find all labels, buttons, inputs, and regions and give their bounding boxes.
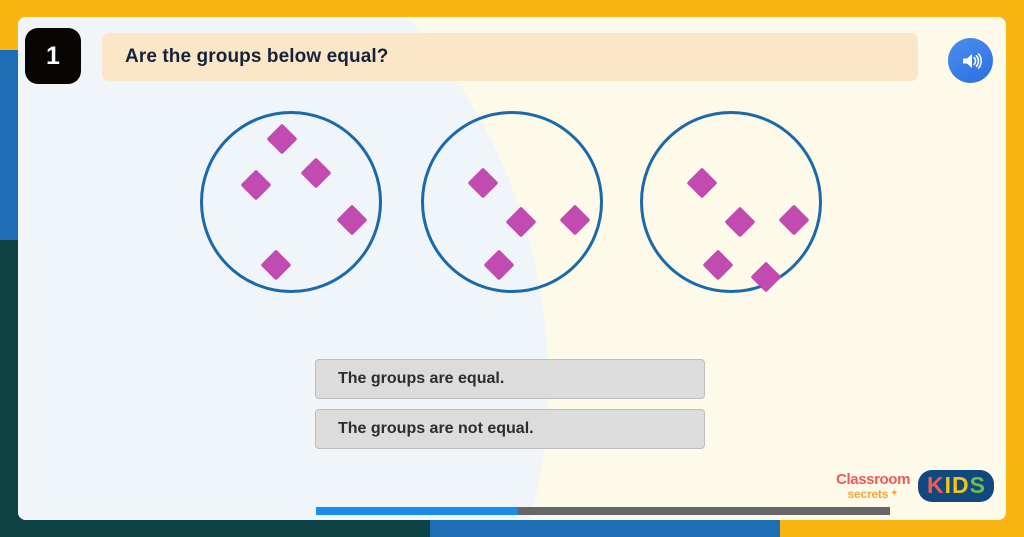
diamond-counter [300, 157, 331, 188]
classroom-secrets-logo: Classroom secrets ✦ [836, 472, 910, 500]
diamond-counter [260, 249, 291, 280]
classroom-secrets-subrow: secrets ✦ [848, 488, 899, 500]
answer-option-equal[interactable]: The groups are equal. [315, 359, 705, 399]
activity-card: 1 Are the groups below equal? [18, 17, 1006, 520]
answer-option-not-equal-label: The groups are not equal. [316, 420, 534, 438]
question-header: 1 Are the groups below equal? [18, 17, 1006, 97]
branding-logos: Classroom secrets ✦ K I D S [836, 470, 994, 502]
kids-logo: K I D S [918, 470, 994, 502]
kids-logo-letter-s: S [970, 474, 985, 497]
diamond-counter [266, 123, 297, 154]
answer-option-equal-label: The groups are equal. [316, 370, 504, 388]
answer-options: The groups are equal. The groups are not… [315, 359, 705, 459]
star-icon: ✦ [890, 489, 898, 499]
diamond-counter [505, 206, 536, 237]
question-text-bar: Are the groups below equal? [102, 33, 918, 81]
kids-logo-letter-d: D [952, 474, 969, 497]
audio-play-button[interactable] [948, 38, 993, 83]
kids-logo-letter-i: I [945, 474, 951, 497]
progress-bar-fill [316, 507, 517, 515]
question-number-badge: 1 [25, 28, 81, 84]
diamond-counter [240, 169, 271, 200]
progress-bar[interactable] [316, 507, 890, 515]
diamond-counter [702, 249, 733, 280]
diamond-counter [559, 204, 590, 235]
kids-logo-letter-k: K [927, 474, 944, 497]
group-circle-2 [421, 111, 603, 293]
group-circle-3 [640, 111, 822, 293]
classroom-secrets-word-classroom: Classroom [836, 472, 910, 487]
diamond-counter [467, 167, 498, 198]
page-frame: 1 Are the groups below equal? [0, 0, 1024, 537]
diamond-counter [778, 204, 809, 235]
question-number: 1 [46, 44, 60, 69]
classroom-secrets-word-secrets: secrets [848, 488, 889, 500]
group-circle-1 [200, 111, 382, 293]
diamond-counter [483, 249, 514, 280]
diamond-counter [724, 206, 755, 237]
answer-option-not-equal[interactable]: The groups are not equal. [315, 409, 705, 449]
diamond-counter [750, 261, 781, 292]
diamond-counter [336, 204, 367, 235]
progress-bar-remainder [517, 507, 890, 515]
diamond-counter [686, 167, 717, 198]
question-text: Are the groups below equal? [102, 46, 388, 68]
speaker-icon [959, 49, 983, 73]
